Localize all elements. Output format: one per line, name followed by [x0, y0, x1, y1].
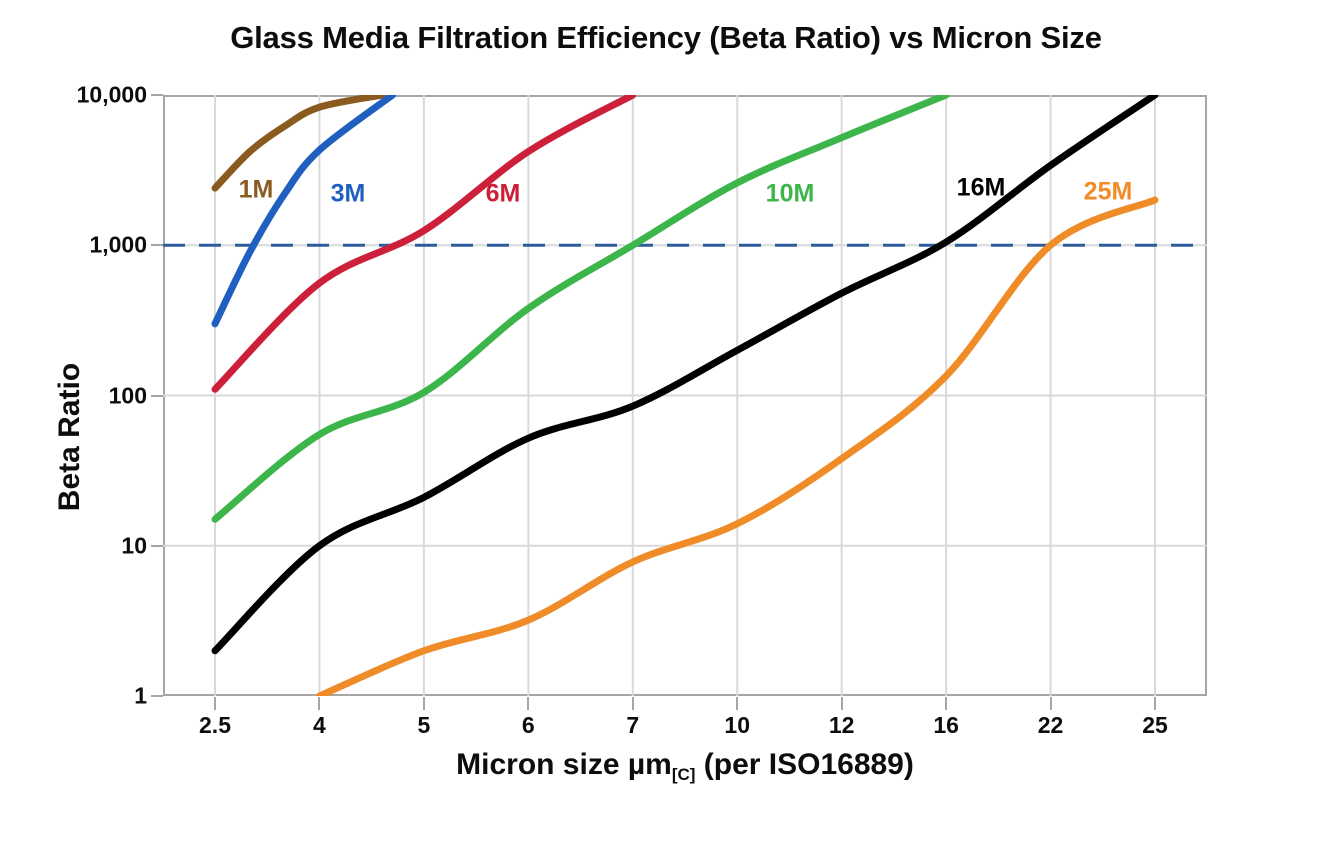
x-tick-label: 2.5 [199, 712, 231, 739]
series-line-16m [215, 95, 1155, 651]
y-tick-label: 1 [134, 683, 147, 710]
chart-root: Glass Media Filtration Efficiency (Beta … [0, 0, 1332, 842]
x-tick-mark [423, 697, 425, 710]
y-tick-mark [151, 545, 163, 547]
x-tick-mark [214, 697, 216, 710]
series-label-3m: 3M [331, 180, 366, 209]
x-axis-title: Micron size µm[C] (per ISO16889) [163, 748, 1207, 785]
y-tick-mark [151, 395, 163, 397]
x-tick-label: 7 [626, 712, 639, 739]
series-line-3m [215, 95, 393, 324]
series-label-25m: 25M [1084, 178, 1133, 207]
x-tick-label: 22 [1038, 712, 1064, 739]
x-tick-label: 4 [313, 712, 326, 739]
x-tick-label: 25 [1142, 712, 1168, 739]
y-tick-label: 10,000 [77, 82, 147, 109]
series-line-10m [215, 95, 946, 519]
x-axis-title-main: Micron size µm [456, 748, 672, 781]
series-label-6m: 6M [486, 180, 521, 209]
chart-title: Glass Media Filtration Efficiency (Beta … [0, 20, 1332, 56]
x-tick-mark [945, 697, 947, 710]
x-tick-mark [1154, 697, 1156, 710]
x-tick-mark [841, 697, 843, 710]
x-tick-mark [632, 697, 634, 710]
x-tick-label: 5 [417, 712, 430, 739]
y-tick-label: 100 [109, 382, 147, 409]
y-axis-title: Beta Ratio [53, 307, 87, 567]
x-tick-mark [318, 697, 320, 710]
x-tick-label: 12 [829, 712, 855, 739]
x-tick-mark [527, 697, 529, 710]
x-tick-label: 16 [933, 712, 959, 739]
x-tick-mark [736, 697, 738, 710]
y-tick-label: 10 [121, 532, 147, 559]
x-axis-title-tail: (per ISO16889) [695, 748, 913, 781]
x-axis-title-subscript: [C] [672, 765, 696, 784]
plot-lines [163, 95, 1207, 696]
y-tick-mark [151, 94, 163, 96]
y-tick-mark [151, 695, 163, 697]
x-tick-label: 10 [724, 712, 750, 739]
series-label-16m: 16M [957, 174, 1006, 203]
y-tick-mark [151, 244, 163, 246]
series-label-1m: 1M [239, 176, 274, 205]
series-label-10m: 10M [766, 180, 815, 209]
x-tick-label: 6 [522, 712, 535, 739]
x-tick-mark [1050, 697, 1052, 710]
y-tick-label: 1,000 [89, 232, 147, 259]
